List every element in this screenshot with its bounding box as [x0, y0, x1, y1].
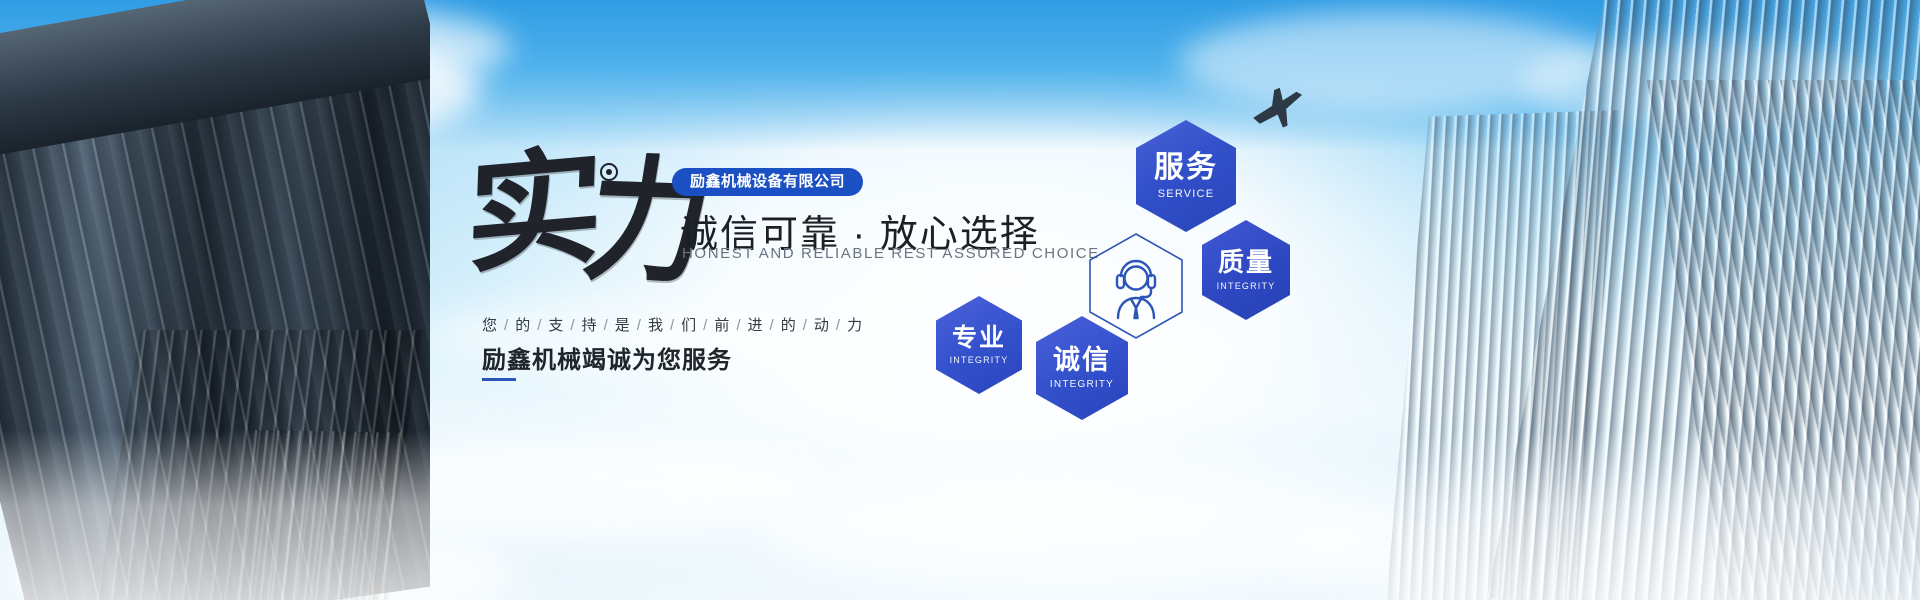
tagline-separator: /	[570, 317, 575, 334]
hexagon-professional-cn: 专业	[952, 325, 1006, 351]
tagline-separator: /	[537, 317, 542, 334]
hexagon-service-en: SERVICE	[1158, 188, 1215, 200]
calligraphy-strength: 实力	[462, 131, 707, 304]
hexagon-professional-en: INTEGRITY	[950, 355, 1009, 365]
tagline-separator: /	[637, 317, 642, 334]
hexagon-quality-cn: 质量	[1218, 249, 1274, 276]
slogan-english: HONEST AND RELIABLE REST ASSURED CHOICE	[682, 245, 1100, 262]
tagline-char: 前	[714, 317, 730, 334]
tagline-separator: /	[736, 317, 741, 334]
tagline-char: 动	[814, 317, 830, 334]
tagline-char: 持	[582, 317, 598, 334]
tagline-char: 力	[847, 317, 863, 334]
support-tagline: 您/的/支/持/是/我/们/前/进/的/动/力	[482, 314, 863, 335]
tagline-separator: /	[803, 317, 808, 334]
tagline-separator: /	[670, 317, 675, 334]
service-statement: 励鑫机械竭诚为您服务	[482, 340, 732, 375]
tagline-char: 们	[681, 317, 697, 334]
hexagon-service-cn: 服务	[1154, 152, 1218, 184]
accent-underline	[482, 378, 516, 381]
headset-operator-icon	[1088, 232, 1184, 340]
tagline-separator: /	[703, 317, 708, 334]
hero-banner: 实力 励鑫机械设备有限公司 诚信可靠 · 放心选择 HONEST AND REL…	[0, 0, 1920, 600]
tagline-char: 进	[748, 317, 764, 334]
tagline-char: 的	[781, 317, 797, 334]
tagline-char: 的	[515, 317, 531, 334]
tagline-char: 是	[615, 317, 631, 334]
bottom-haze	[0, 430, 1920, 600]
hexagon-honest-en: INTEGRITY	[1050, 379, 1114, 390]
hexagon-honest-cn: 诚信	[1053, 346, 1111, 374]
tagline-separator: /	[504, 317, 509, 334]
tagline-char: 我	[648, 317, 664, 334]
tagline-separator: /	[770, 317, 775, 334]
company-name-badge: 励鑫机械设备有限公司	[672, 168, 863, 196]
tagline-char: 支	[548, 317, 564, 334]
hexagon-support-outline[interactable]	[1088, 232, 1184, 340]
seal-dot-icon	[600, 163, 618, 181]
tagline-separator: /	[604, 317, 609, 334]
hexagon-quality-en: INTEGRITY	[1217, 281, 1276, 291]
tagline-separator: /	[836, 317, 841, 334]
tagline-char: 您	[482, 317, 498, 334]
